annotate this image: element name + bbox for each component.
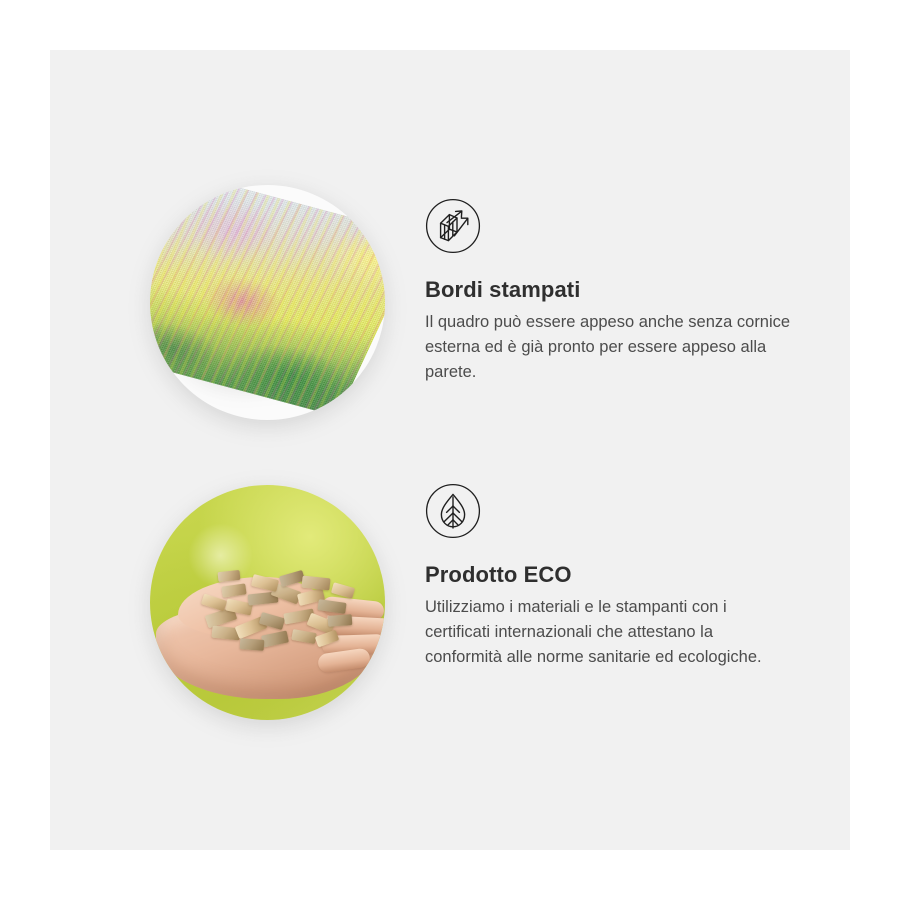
wood-chip: [261, 630, 289, 647]
canvas-artwork: [150, 185, 385, 420]
leaf-icon: [425, 483, 850, 544]
feature-media-eco-product: [50, 465, 425, 715]
feature-media-printed-edges: [50, 180, 425, 430]
wood-chip-pile: [202, 571, 358, 649]
wood-chip: [317, 599, 346, 614]
page-root: Bordi stampati Il quadro può essere appe…: [0, 0, 900, 900]
feature-eco-product: Prodotto ECO Utilizziamo i materiali e l…: [50, 465, 850, 715]
wood-chip: [331, 582, 355, 599]
wood-chip: [291, 629, 317, 644]
feature-description: Utilizziamo i materiali e le stampanti c…: [425, 595, 791, 670]
canvas-wrapped-edge-icon: [425, 198, 850, 259]
wood-chip: [221, 583, 246, 597]
canvas-print-photo: [150, 185, 385, 420]
feature-text-printed-edges: Bordi stampati Il quadro può essere appe…: [425, 180, 850, 385]
hands-wood-chips-photo: [150, 485, 385, 720]
wood-chip: [328, 614, 353, 627]
wood-chip: [240, 638, 265, 651]
feature-title: Prodotto ECO: [425, 562, 850, 588]
feature-title: Bordi stampati: [425, 277, 850, 303]
content-panel: Bordi stampati Il quadro può essere appe…: [50, 50, 850, 850]
feature-text-eco-product: Prodotto ECO Utilizziamo i materiali e l…: [425, 465, 850, 670]
wood-chip: [301, 576, 330, 591]
wood-chip: [218, 570, 241, 582]
wood-chip: [251, 574, 279, 592]
wood-chip: [315, 630, 339, 648]
eco-photo-content: [150, 485, 385, 720]
feature-printed-edges: Bordi stampati Il quadro può essere appe…: [50, 180, 850, 430]
feature-description: Il quadro può essere appeso anche senza …: [425, 310, 791, 385]
